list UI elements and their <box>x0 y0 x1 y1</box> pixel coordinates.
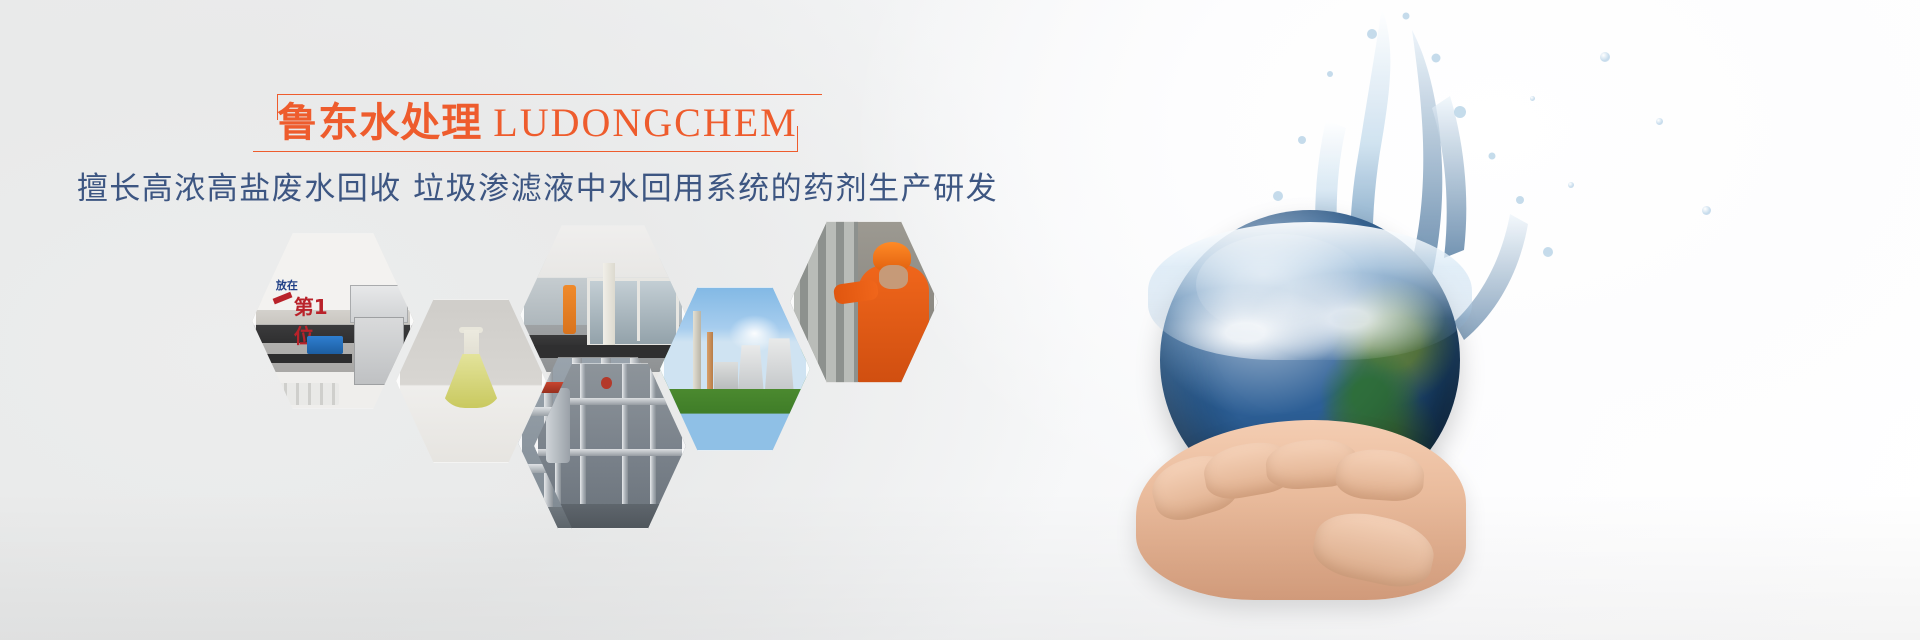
blue-equipment <box>307 336 343 354</box>
chimney-stack <box>693 311 701 389</box>
worker-face <box>879 265 909 289</box>
hex-tile-lab-room: 放在 第1位 <box>252 230 414 412</box>
arrow-icon <box>273 292 293 305</box>
chimney-stack-striped <box>707 332 713 390</box>
banner-root: 放在 第1位 <box>0 0 1920 640</box>
headline-block: 鲁东水处理 LUDONGCHEM 擅长高浓高盐废水回收 垃圾渗滤液中水回用系统的… <box>0 88 1075 209</box>
frame-tick-right <box>797 126 798 152</box>
wall-slogan: 放在 第1位 <box>271 277 346 317</box>
page-title-cn: 鲁东水处理 <box>277 100 482 146</box>
orange-stand <box>563 285 576 333</box>
lab-bench <box>527 345 680 358</box>
plant-building <box>714 362 738 389</box>
window <box>587 278 679 347</box>
page-subtitle: 擅长高浓高盐废水回收 垃圾渗滤液中水回用系统的药剂生产研发 <box>0 170 1075 209</box>
frame-rule-bottom <box>253 151 797 152</box>
cooling-tower <box>738 345 764 389</box>
lab-bench <box>262 354 353 363</box>
window-mullion <box>637 278 640 341</box>
cabinet-lower <box>354 317 405 385</box>
chemical-jugs <box>275 383 340 405</box>
hands-icon <box>1100 370 1520 600</box>
page-title: 鲁东水处理 LUDONGCHEM <box>277 102 797 144</box>
globe-highlight <box>1196 234 1364 336</box>
water-globe-artwork <box>1060 0 1920 640</box>
distillation-column <box>603 263 615 352</box>
globe-in-hands <box>1100 180 1520 600</box>
cooling-tower <box>765 338 794 389</box>
flask-body <box>441 354 501 408</box>
frame-rule-top <box>277 94 821 95</box>
page-title-en: LUDONGCHEM <box>493 100 797 145</box>
title-frame: 鲁东水处理 LUDONGCHEM <box>255 88 819 154</box>
frame-tick-left <box>277 94 278 120</box>
red-valve <box>601 377 612 389</box>
hex-tile-worker-orange <box>790 218 938 386</box>
